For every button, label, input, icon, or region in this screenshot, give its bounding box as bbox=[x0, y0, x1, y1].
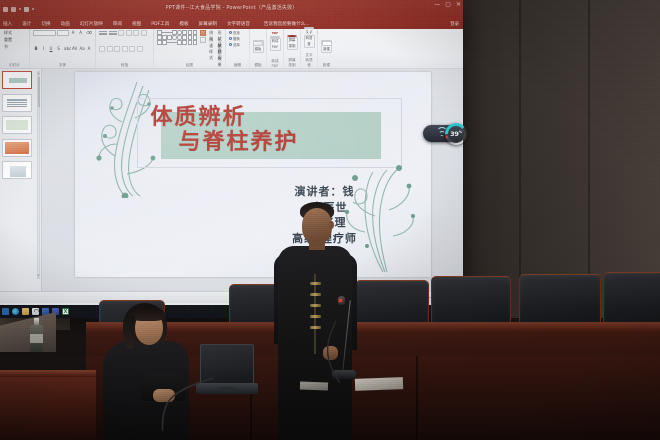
italic-button[interactable]: I bbox=[41, 46, 47, 52]
battery-ring-gauge[interactable]: 39% bbox=[445, 123, 467, 145]
tab-slideshow[interactable]: 幻灯片放映 bbox=[79, 21, 104, 27]
mail-icon[interactable] bbox=[42, 308, 49, 315]
ribbon-group-template: 模板 模板 bbox=[250, 29, 267, 68]
tab-insert[interactable]: 插入 bbox=[2, 21, 13, 27]
ribbon-group-label-new: 新建 bbox=[321, 63, 332, 69]
ribbon-tab-strip[interactable]: 插入 设计 切换 动画 幻灯片放映 审阅 视图 PDF工具 模板 屏幕录制 文字… bbox=[0, 18, 463, 29]
water-bottle bbox=[30, 318, 43, 352]
powerpoint-window: PPT课件--江大食品学院 - PowerPoint（产品激活失败） — ▢ ✕… bbox=[0, 0, 463, 305]
ribbon-group-label-paragraph: 段落 bbox=[99, 63, 150, 69]
slide-thumbnail-2[interactable]: 2 bbox=[2, 94, 32, 112]
scroll-down-arrow[interactable]: ▾ bbox=[38, 274, 40, 278]
ribbon: 样式 重置 节 幻灯片 A A ⌫ bbox=[0, 29, 463, 69]
arrange-button[interactable]: 排列 bbox=[208, 30, 214, 36]
speech-icon bbox=[304, 27, 314, 29]
paste-button[interactable]: 样式 bbox=[3, 30, 13, 36]
ribbon-group-to-pdf: 转成PDF 转成PDF bbox=[267, 29, 284, 68]
folder-icon[interactable] bbox=[22, 308, 29, 315]
battery-percent-value: 39% bbox=[450, 130, 462, 138]
start-button-icon[interactable] bbox=[2, 308, 9, 315]
increase-font-size-icon[interactable]: A bbox=[70, 30, 76, 36]
tab-pdf-tools[interactable]: PDF工具 bbox=[150, 21, 170, 27]
tab-review[interactable]: 审阅 bbox=[112, 21, 123, 27]
ribbon-group-new: 新建 新建 bbox=[318, 29, 335, 68]
character-spacing-button[interactable]: AV bbox=[71, 46, 77, 52]
excel-icon[interactable] bbox=[62, 308, 69, 315]
sign-in-link[interactable]: 登录 bbox=[450, 21, 459, 27]
shape-quick-style-icon[interactable] bbox=[200, 30, 206, 36]
ribbon-group-text-to-speech: 文字转语音 文字转语音 bbox=[301, 29, 318, 68]
shapes-gallery[interactable] bbox=[157, 30, 197, 45]
projection-screen: PPT课件--江大食品学院 - PowerPoint（产品激活失败） — ▢ ✕… bbox=[0, 0, 463, 318]
window-controls[interactable]: — ▢ ✕ bbox=[434, 2, 461, 8]
thumb-photo bbox=[10, 166, 26, 177]
ribbon-group-label-screen-record: 屏幕录制 bbox=[287, 58, 297, 69]
conference-room: PPT课件--江大食品学院 - PowerPoint（产品激活失败） — ▢ ✕… bbox=[0, 0, 660, 440]
ribbon-group-editing: 查找 替换 选择 编辑 bbox=[226, 29, 250, 68]
slide-title-line2: 与脊柱养护 bbox=[151, 130, 401, 155]
slide-thumbnail-3[interactable]: 3 bbox=[2, 116, 32, 134]
thumb-orange-fill bbox=[5, 142, 29, 154]
bold-button[interactable]: B bbox=[33, 46, 39, 52]
ribbon-group-drawing: 排列 快速样式 形状填充 形状轮廓 形状效果 绘图 bbox=[154, 29, 226, 68]
slide-thumbnail-pane[interactable]: 1 2 3 4 bbox=[0, 69, 42, 291]
scroll-up-arrow[interactable]: ▴ bbox=[38, 72, 40, 76]
slide-canvas-area[interactable]: 体质辨析 与脊柱养护 演讲者：钱 中医世 经络理 高级 理疗师 bbox=[42, 69, 463, 291]
reset-button[interactable]: 重置 bbox=[3, 37, 13, 43]
tab-view[interactable]: 视图 bbox=[131, 21, 142, 27]
slide-title[interactable]: 体质辨析 与脊柱养护 bbox=[151, 105, 401, 155]
slide-thumbnail-4[interactable]: 4 bbox=[2, 139, 32, 157]
thumbnail-scrollbar[interactable]: ▴ ▾ bbox=[37, 71, 41, 279]
battery-percent-number: 39 bbox=[450, 130, 459, 138]
document-title: PPT课件--江大食品学院 - PowerPoint（产品激活失败） bbox=[0, 4, 463, 11]
shape-fill-option[interactable]: 形状填充 bbox=[217, 30, 223, 36]
line-spacing-icon[interactable] bbox=[133, 30, 139, 36]
slide-1[interactable]: 体质辨析 与脊柱养护 演讲者：钱 中医世 经络理 高级 理疗师 bbox=[75, 72, 431, 277]
cable-mic bbox=[300, 316, 348, 392]
tab-screen-record[interactable]: 屏幕录制 bbox=[198, 21, 218, 27]
ribbon-group-font: A A ⌫ B I U S abc AV Aa A bbox=[30, 29, 96, 68]
tab-animations[interactable]: 动画 bbox=[60, 21, 71, 27]
tab-design[interactable]: 设计 bbox=[21, 21, 32, 27]
justify-icon[interactable] bbox=[122, 46, 128, 52]
template-button[interactable]: 模板 bbox=[253, 40, 264, 53]
titlebar: PPT课件--江大食品学院 - PowerPoint（产品激活失败） — ▢ ✕ bbox=[0, 0, 463, 18]
wall-seam bbox=[519, 0, 521, 320]
font-size-input[interactable] bbox=[57, 30, 68, 36]
ribbon-group-paragraph: 段落 bbox=[96, 29, 154, 68]
bullets-icon[interactable] bbox=[99, 31, 107, 34]
shape-outline-option[interactable]: 形状轮廓 bbox=[217, 37, 223, 43]
battery-percent-symbol: % bbox=[459, 130, 462, 134]
papers bbox=[355, 377, 403, 391]
convert-smartart-icon[interactable] bbox=[137, 46, 143, 52]
text-direction-icon[interactable] bbox=[141, 30, 147, 36]
quick-styles-button[interactable]: 快速样式 bbox=[208, 37, 214, 43]
new-button[interactable]: 新建 bbox=[321, 40, 332, 53]
cable bbox=[150, 372, 230, 440]
change-case-button[interactable]: Aa bbox=[79, 46, 85, 52]
workspace: 1 2 3 4 bbox=[0, 69, 463, 291]
minimize-button[interactable]: — bbox=[434, 2, 440, 8]
ribbon-group-label-to-pdf: 转成PDF bbox=[270, 59, 280, 69]
ribbon-group-label-text-to-speech: 文字转语音 bbox=[304, 53, 314, 69]
thumb-text-lines bbox=[7, 99, 27, 109]
replace-button[interactable]: 替换 bbox=[229, 36, 246, 41]
slide-thumbnail-1[interactable]: 1 bbox=[2, 71, 32, 89]
thumb-green-fill bbox=[6, 120, 28, 130]
text-to-speech-button[interactable]: 文字转语音 bbox=[304, 35, 315, 48]
align-left-icon[interactable] bbox=[99, 46, 105, 52]
font-name-input[interactable] bbox=[33, 30, 56, 36]
columns-icon[interactable] bbox=[129, 46, 135, 52]
underline-button[interactable]: U bbox=[48, 46, 54, 52]
close-button[interactable]: ✕ bbox=[456, 2, 461, 8]
tell-me-search[interactable]: 告诉我您想要做什么... bbox=[263, 21, 311, 27]
select-button[interactable]: 选择 bbox=[229, 42, 246, 47]
slide-title-line1: 体质辨析 bbox=[151, 105, 247, 130]
maximize-button[interactable]: ▢ bbox=[445, 2, 451, 8]
screen-record-button[interactable]: 屏幕录制 bbox=[287, 37, 298, 50]
thumb-title-band bbox=[9, 78, 27, 83]
section-button[interactable]: 节 bbox=[3, 44, 9, 50]
search-icon bbox=[229, 31, 232, 34]
ribbon-group-label-template: 模板 bbox=[253, 63, 263, 69]
numbering-icon[interactable] bbox=[109, 31, 117, 34]
wall-right-panel bbox=[460, 0, 660, 318]
text-shadow-button[interactable]: S bbox=[56, 46, 62, 52]
strikethrough-button[interactable]: abc bbox=[63, 46, 70, 52]
ribbon-group-screen-record: 屏幕录制 屏幕录制 bbox=[284, 29, 301, 68]
edge-icon[interactable] bbox=[12, 308, 19, 315]
ribbon-group-label-drawing: 绘图 bbox=[157, 63, 222, 69]
decrease-indent-icon[interactable] bbox=[118, 30, 124, 36]
find-button[interactable]: 查找 bbox=[229, 30, 246, 35]
align-right-icon[interactable] bbox=[114, 46, 120, 52]
select-icon bbox=[229, 43, 232, 46]
security-lock-icon[interactable] bbox=[32, 308, 39, 315]
tab-text-to-speech[interactable]: 文字转语音 bbox=[226, 21, 251, 27]
wall-seam bbox=[588, 0, 590, 320]
tab-transitions[interactable]: 切换 bbox=[40, 21, 51, 27]
shape-effects-option[interactable]: 形状效果 bbox=[217, 44, 223, 50]
decrease-font-size-icon[interactable]: A bbox=[78, 30, 84, 36]
floating-status-hud[interactable]: 39% bbox=[423, 123, 473, 145]
tab-template[interactable]: 模板 bbox=[178, 21, 189, 27]
font-color-button[interactable]: A bbox=[86, 46, 92, 52]
ribbon-group-label-editing: 编辑 bbox=[229, 63, 246, 69]
clear-formatting-icon[interactable]: ⌫ bbox=[85, 30, 92, 36]
increase-indent-icon[interactable] bbox=[126, 30, 132, 36]
replace-icon bbox=[229, 37, 232, 40]
ribbon-group-label-font: 字体 bbox=[33, 63, 92, 69]
convert-to-pdf-button[interactable]: 转成PDF bbox=[270, 38, 281, 51]
conference-table-left-section bbox=[0, 370, 96, 440]
ribbon-group-label-slides: 幻灯片 bbox=[3, 63, 26, 69]
pdf-icon bbox=[270, 36, 280, 38]
slide-thumbnail-5[interactable]: 5 bbox=[2, 161, 32, 179]
align-center-icon[interactable] bbox=[107, 46, 113, 52]
screen-content: PPT课件--江大食品学院 - PowerPoint（产品激活失败） — ▢ ✕… bbox=[0, 0, 463, 318]
scrollbar-thumb[interactable] bbox=[38, 77, 40, 107]
shape-style-gallery-icon[interactable] bbox=[200, 37, 206, 43]
ribbon-group-clipboard: 样式 重置 节 幻灯片 bbox=[0, 29, 30, 68]
